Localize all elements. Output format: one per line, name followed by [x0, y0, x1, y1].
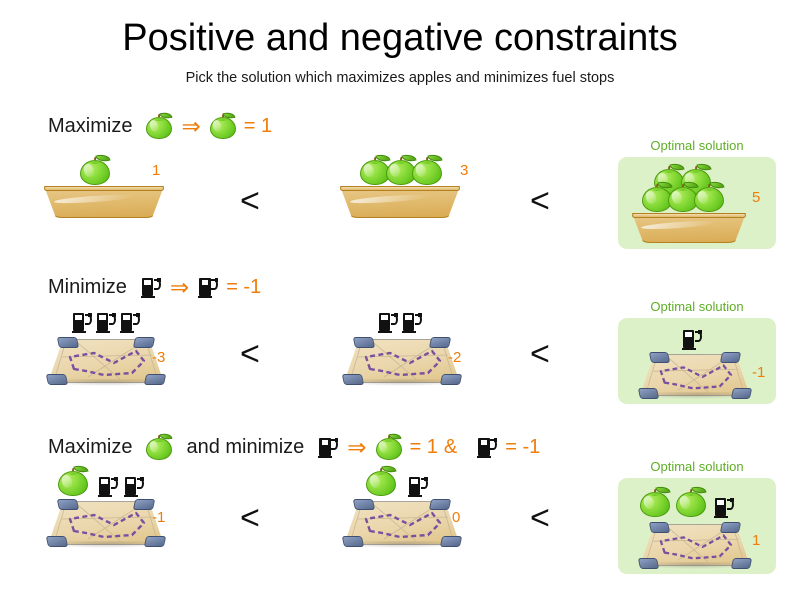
solution-score: -2 [448, 349, 461, 366]
apple-icon [640, 486, 670, 518]
fuel-pump-icon [96, 311, 116, 333]
fuel-pump-icon [477, 436, 497, 458]
fuel-pump-icon [141, 276, 161, 298]
optimal-solution-label: Optimal solution [618, 459, 776, 474]
route-map-icon [640, 354, 750, 396]
optimal-solution-option[interactable]: Optimal solution [618, 459, 776, 574]
apple-icon [366, 465, 396, 497]
page-title: Positive and negative constraints [0, 18, 800, 60]
fuel-pump-icon [120, 311, 140, 333]
solution-option[interactable]: 1 [34, 140, 244, 258]
fuel-pump-icon [318, 436, 338, 458]
optimal-solution-label: Optimal solution [618, 138, 776, 153]
fuel-pump-icon [408, 475, 428, 497]
solution-option[interactable]: -2 [330, 301, 540, 419]
apple-icon [146, 433, 172, 461]
apple-icon [412, 154, 442, 186]
apple-icon [694, 181, 724, 213]
legend-second-equation: = -1 [505, 436, 540, 459]
legend-prefix-label: Minimize [48, 276, 127, 299]
route-map-icon [640, 524, 750, 566]
solution-option[interactable]: -1 [34, 461, 244, 579]
solution-score: -3 [152, 349, 165, 366]
solution-score: 3 [460, 162, 468, 179]
fuel-pump-icon [682, 328, 702, 350]
solution-score: 1 [752, 532, 760, 549]
solutions-container: -3 [0, 301, 800, 431]
comparison-operator: < [530, 337, 550, 371]
solutions-container: 1 3 [0, 140, 800, 270]
apple-icon [80, 154, 110, 186]
fuel-pump-icon [98, 475, 118, 497]
solution-score: 1 [152, 162, 160, 179]
solution-option[interactable]: -3 [34, 301, 244, 419]
route-map-icon [48, 339, 164, 383]
fruit-bowl-icon [44, 186, 164, 218]
apple-icon [376, 433, 402, 461]
apple-icon [146, 112, 172, 140]
route-map-icon [48, 501, 164, 545]
legend-middle-label: and minimize [186, 436, 304, 459]
comparison-operator: < [240, 501, 260, 535]
legend-equation: = -1 [226, 276, 261, 299]
comparison-operator: < [530, 184, 550, 218]
optimal-solution-option[interactable]: Optimal solution [618, 138, 776, 249]
fruit-bowl-icon [632, 213, 746, 243]
solution-score: -1 [752, 364, 765, 381]
route-map-icon [344, 501, 460, 545]
fuel-pump-icon [198, 276, 218, 298]
fuel-pump-icon [714, 496, 734, 518]
apple-icon [676, 486, 706, 518]
optimal-solution-label: Optimal solution [618, 299, 776, 314]
legend-ampersand: & [444, 436, 457, 459]
fuel-pump-icon [378, 311, 398, 333]
apple-icon [210, 112, 236, 140]
implies-arrow-icon: ⇒ [170, 276, 189, 299]
fuel-pump-icon [124, 475, 144, 497]
solution-score: -1 [152, 509, 165, 526]
optimal-solution-option[interactable]: Optimal solution [618, 299, 776, 404]
implies-arrow-icon: ⇒ [181, 115, 200, 138]
fuel-pump-icon [72, 311, 92, 333]
comparison-operator: < [530, 501, 550, 535]
legend-prefix-label: Maximize [48, 436, 132, 459]
legend-equation: = 1 [244, 115, 272, 138]
fuel-pump-icon [402, 311, 422, 333]
solution-score: 5 [752, 189, 760, 206]
route-map-icon [344, 339, 460, 383]
legend-equation: = 1 [410, 436, 438, 459]
page-header: Positive and negative constraints Pick t… [0, 0, 800, 86]
solution-option[interactable]: 3 [330, 140, 540, 258]
page-subtitle: Pick the solution which maximizes apples… [0, 70, 800, 86]
solution-score: 0 [452, 509, 460, 526]
comparison-operator: < [240, 337, 260, 371]
implies-arrow-icon: ⇒ [347, 436, 366, 459]
solution-option[interactable]: 0 [330, 461, 540, 579]
legend-prefix-label: Maximize [48, 115, 132, 138]
solutions-container: -1 [0, 461, 800, 591]
comparison-operator: < [240, 184, 260, 218]
fruit-bowl-icon [340, 186, 460, 218]
apple-icon [58, 465, 88, 497]
